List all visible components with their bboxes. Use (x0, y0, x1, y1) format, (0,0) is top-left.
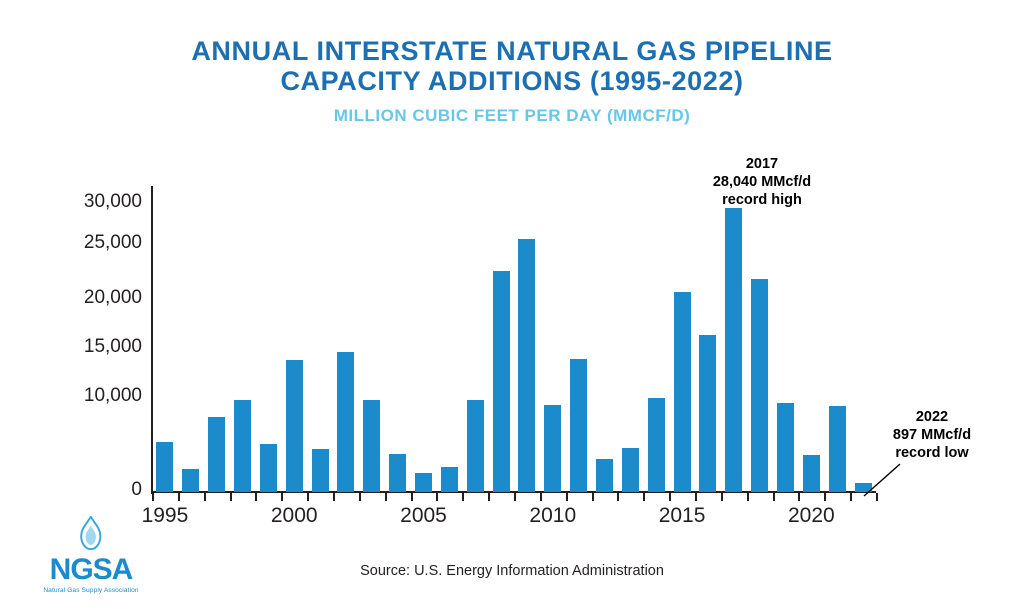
x-axis-tickmark (333, 493, 335, 501)
x-axis-tickmark (514, 493, 516, 501)
bar-2013[interactable] (622, 448, 639, 492)
x-axis-tickmark (488, 493, 490, 501)
x-axis-tick-label: 2000 (271, 504, 318, 528)
bar-2012[interactable] (596, 459, 613, 492)
x-axis-tickmark (359, 493, 361, 501)
bar-2011[interactable] (570, 359, 587, 492)
bar-1998[interactable] (234, 400, 251, 492)
bar-2008[interactable] (493, 271, 510, 492)
x-axis-tick-label: 2015 (659, 504, 706, 528)
x-axis-tickmark (643, 493, 645, 501)
x-axis-tickmark (540, 493, 542, 501)
y-axis-tick-label: 0 (32, 479, 142, 501)
annotation-leader-line (862, 462, 902, 498)
x-axis-tickmark (307, 493, 309, 501)
x-axis-tickmark (230, 493, 232, 501)
bar-2005[interactable] (415, 473, 432, 492)
y-axis-tick-label: 20,000 (32, 287, 142, 309)
bar-2017[interactable] (725, 208, 742, 492)
x-axis-tickmark (178, 493, 180, 501)
logo-tagline: Natural Gas Supply Association (30, 587, 152, 594)
x-axis-tickmarks (152, 493, 876, 502)
annotation-low-value: 897 MMcf/d (862, 426, 1002, 444)
annotation-record-high: 2017 28,040 MMcf/d record high (672, 155, 852, 209)
annotation-record-low: 2022 897 MMcf/d record low (862, 408, 1002, 462)
plot-area (152, 188, 876, 492)
bar-2010[interactable] (544, 405, 561, 492)
x-axis-tickmark (255, 493, 257, 501)
bar-2000[interactable] (286, 360, 303, 492)
bar-2003[interactable] (363, 400, 380, 492)
bar-1997[interactable] (208, 417, 225, 492)
x-axis-tickmark (798, 493, 800, 501)
x-axis-tickmark (462, 493, 464, 501)
bar-2004[interactable] (389, 454, 406, 493)
bar-2020[interactable] (803, 455, 820, 492)
bar-2006[interactable] (441, 467, 458, 492)
annotation-high-value: 28,040 MMcf/d (672, 173, 852, 191)
annotation-low-year: 2022 (862, 408, 1002, 426)
x-axis-tick-label: 2020 (788, 504, 835, 528)
bar-2001[interactable] (312, 449, 329, 492)
x-axis-tickmark (411, 493, 413, 501)
y-axis-tick-label: 15,000 (32, 336, 142, 358)
bar-1999[interactable] (260, 444, 277, 492)
bar-1996[interactable] (182, 469, 199, 492)
flame-icon (76, 516, 106, 550)
x-axis-tickmark (695, 493, 697, 501)
bar-2007[interactable] (467, 400, 484, 492)
y-axis-tick-label: 30,000 (32, 191, 142, 213)
bar-2019[interactable] (777, 403, 794, 492)
x-axis-tickmark (152, 493, 154, 501)
bar-2016[interactable] (699, 335, 716, 492)
y-axis-tick-label: 25,000 (32, 232, 142, 254)
x-axis-tickmark (824, 493, 826, 501)
x-axis-tickmark (204, 493, 206, 501)
annotation-high-year: 2017 (672, 155, 852, 173)
ngsa-logo: NGSA Natural Gas Supply Association (30, 516, 152, 602)
bar-2009[interactable] (518, 239, 535, 492)
x-axis-tickmark (385, 493, 387, 501)
x-axis-tickmark (566, 493, 568, 501)
bar-2014[interactable] (648, 398, 665, 492)
x-axis-tick-label: 2010 (529, 504, 576, 528)
x-axis-tickmark (721, 493, 723, 501)
y-axis-tick-label: 10,000 (32, 385, 142, 407)
x-axis-labels: 199520002005201020152020 (0, 504, 1024, 538)
bar-2021[interactable] (829, 406, 846, 492)
logo-wordmark: NGSA (30, 556, 152, 584)
bar-2018[interactable] (751, 279, 768, 492)
x-axis-tickmark (747, 493, 749, 501)
x-axis-tickmark (617, 493, 619, 501)
chart-plot: 010,00015,00020,00025,00030,000 19952000… (0, 0, 1024, 614)
annotation-high-note: record high (672, 191, 852, 209)
bar-series (152, 188, 876, 492)
source-note: Source: U.S. Energy Information Administ… (0, 563, 1024, 579)
bar-2002[interactable] (337, 352, 354, 492)
x-axis-tickmark (436, 493, 438, 501)
bar-1995[interactable] (156, 442, 173, 492)
x-axis-tick-label: 2005 (400, 504, 447, 528)
x-axis-tickmark (669, 493, 671, 501)
x-axis-tickmark (850, 493, 852, 501)
x-axis-tickmark (281, 493, 283, 501)
bar-2015[interactable] (674, 292, 691, 492)
x-axis-tickmark (773, 493, 775, 501)
annotation-low-note: record low (862, 444, 1002, 462)
x-axis-tickmark (592, 493, 594, 501)
